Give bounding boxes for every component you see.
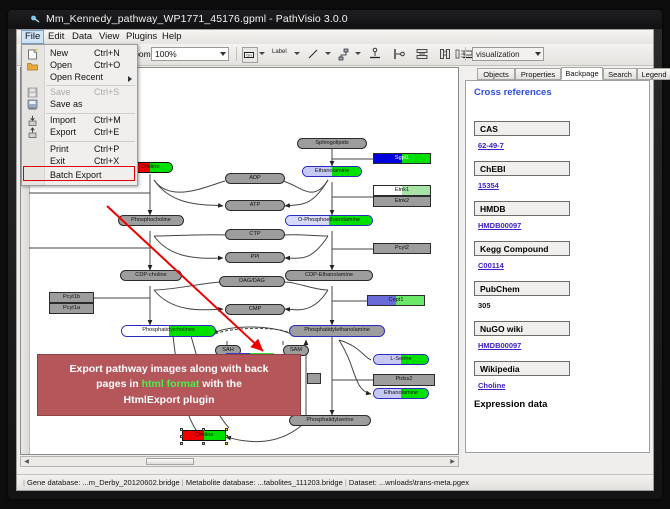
chevron-down-icon[interactable] (294, 52, 300, 55)
app-area: File Edit Data View Plugins Help Zoom: 1… (16, 29, 654, 491)
stack-vertical-icon[interactable] (415, 47, 429, 61)
menu-divider (46, 141, 135, 142)
tab-properties[interactable]: Properties (515, 68, 561, 80)
chevron-down-icon (535, 52, 541, 56)
annotation-line2-b: with the (199, 378, 242, 390)
status-dataset-value: ...wnloads\trans-meta.pgex (379, 478, 469, 487)
xref-value-cas[interactable]: 62-49-7 (478, 141, 504, 150)
annotation-line3: HtmlExport plugin (124, 394, 215, 406)
align-left-icon[interactable] (392, 47, 406, 61)
chevron-down-icon[interactable] (259, 52, 265, 55)
batch-export-highlight (23, 166, 135, 181)
toolbar-separator (236, 47, 237, 61)
cross-references-title: Cross references (474, 87, 552, 98)
menu-plugins[interactable]: Plugins (123, 31, 160, 43)
window-title: Mm_Kennedy_pathway_WP1771_45176.gpml - P… (46, 13, 348, 25)
canvas-hscrollbar[interactable]: ◀ ▶ (20, 456, 459, 467)
annotation-text: Export pathway images along with back pa… (70, 362, 269, 408)
annotation-highlight: html format (142, 378, 200, 390)
backpage-panel[interactable]: Cross references CAS 62-49-7 ChEBI 15354… (465, 80, 650, 453)
annotation-line1: Export pathway images along with back (70, 363, 269, 375)
xref-header-wikipedia: Wikipedia (474, 361, 570, 376)
chevron-down-icon[interactable] (355, 52, 361, 55)
status-metabolite-db-label: Metabolite database: (186, 478, 256, 487)
status-dataset-label: Dataset: (349, 478, 377, 487)
import-icon (27, 115, 38, 126)
save-as-icon (27, 99, 38, 110)
menu-divider (46, 85, 135, 86)
xref-value-hmdb[interactable]: HMDB00097 (478, 221, 521, 230)
menu-shortcut-save: Ctrl+S (94, 87, 119, 97)
side-panel: Objects Properties Backpage Search Legen… (463, 67, 652, 455)
menu-item-import[interactable]: Import (50, 115, 76, 125)
line-tool-icon[interactable] (306, 47, 320, 61)
tab-legend[interactable]: Legend (637, 68, 670, 80)
annotation-banner: Export pathway images along with back pa… (37, 354, 301, 416)
visualization-icon (455, 47, 467, 61)
menu-item-save-as[interactable]: Save as (50, 99, 83, 109)
tab-objects[interactable]: Objects (477, 68, 515, 80)
menu-data[interactable]: Data (69, 31, 95, 43)
interaction-tool-icon[interactable] (337, 47, 351, 61)
menu-edit[interactable]: Edit (45, 31, 67, 43)
datanode-icon: Gn (243, 49, 255, 61)
xref-value-kegg[interactable]: C00114 (478, 261, 504, 270)
xref-value-wikipedia[interactable]: Choline (478, 381, 506, 390)
export-icon (27, 127, 38, 138)
menu-shortcut-print: Ctrl+P (94, 144, 119, 154)
expression-data-title: Expression data (474, 399, 547, 410)
align-top-icon[interactable] (368, 47, 382, 61)
save-disk-icon (27, 87, 38, 98)
visualization-combobox[interactable]: visualization (472, 47, 544, 61)
menu-shortcut-open: Ctrl+O (94, 60, 120, 70)
hscroll-thumb[interactable] (146, 458, 194, 465)
statusbar: | Gene database: ...m_Derby_20120602.bri… (17, 474, 653, 490)
scroll-left-icon[interactable]: ◀ (22, 458, 31, 465)
chevron-down-icon[interactable] (325, 52, 331, 55)
xref-value-chebi[interactable]: 15354 (478, 181, 499, 190)
common-width-icon[interactable] (438, 47, 452, 61)
zoom-value: 100% (155, 49, 177, 59)
label-tool-label[interactable]: Label (272, 49, 287, 55)
datanode-tool-button[interactable]: Gn (242, 47, 258, 63)
application-window: Mm_Kennedy_pathway_WP1771_45176.gpml - P… (8, 10, 662, 499)
menu-item-exit[interactable]: Exit (50, 156, 65, 166)
status-gene-db-label: Gene database: (27, 478, 80, 487)
menu-divider (46, 113, 135, 114)
menu-help[interactable]: Help (159, 31, 185, 43)
zoom-combobox[interactable]: 100% (151, 47, 229, 61)
xref-header-pubchem: PubChem (474, 281, 570, 296)
menu-item-open-recent[interactable]: Open Recent (50, 72, 103, 82)
scroll-right-icon[interactable]: ▶ (448, 458, 457, 465)
svg-text:Gn: Gn (246, 53, 251, 58)
menu-item-new[interactable]: New (50, 48, 68, 58)
tab-backpage[interactable]: Backpage (561, 67, 603, 80)
chevron-down-icon (220, 52, 226, 56)
new-document-icon (27, 49, 38, 60)
menu-shortcut-export: Ctrl+E (94, 127, 119, 137)
status-metabolite-db-value: ...tabolites_111203.bridge (258, 478, 343, 487)
menu-shortcut-exit: Ctrl+X (94, 156, 119, 166)
menu-item-save: Save (50, 87, 71, 97)
xref-header-chebi: ChEBI (474, 161, 570, 176)
xref-header-nugo: NuGO wiki (474, 321, 570, 336)
statusbar-text: | Gene database: ...m_Derby_20120602.bri… (23, 478, 469, 487)
screen: Mm_Kennedy_pathway_WP1771_45176.gpml - P… (0, 0, 670, 509)
tab-search[interactable]: Search (603, 68, 637, 80)
menu-view[interactable]: View (96, 31, 122, 43)
open-folder-icon (27, 61, 38, 72)
xref-value-pubchem: 305 (478, 301, 491, 310)
chevron-right-icon (128, 76, 132, 82)
xref-header-hmdb: HMDB (474, 201, 570, 216)
menu-shortcut-import: Ctrl+M (94, 115, 121, 125)
window-titlebar: Mm_Kennedy_pathway_WP1771_45176.gpml - P… (8, 10, 662, 29)
visualization-value: visualization (476, 50, 520, 59)
file-menu-dropdown[interactable]: New Ctrl+N Open Ctrl+O Open Recent (21, 44, 138, 186)
annotation-line2-a: pages in (96, 378, 142, 390)
menu-item-open[interactable]: Open (50, 60, 72, 70)
xref-value-nugo[interactable]: HMDB00097 (478, 341, 521, 350)
menu-item-export[interactable]: Export (50, 127, 76, 137)
side-panel-tabs: Objects Properties Backpage Search Legen… (463, 67, 652, 80)
pathvisio-icon (30, 14, 41, 25)
menubar: File Edit Data View Plugins Help (17, 30, 653, 45)
status-gene-db-value: ...m_Derby_20120602.bridge (83, 478, 180, 487)
menu-shortcut-new: Ctrl+N (94, 48, 120, 58)
xref-header-kegg: Kegg Compound (474, 241, 570, 256)
xref-header-cas: CAS (474, 121, 570, 136)
menu-file[interactable]: File (21, 30, 44, 44)
menu-item-print[interactable]: Print (50, 144, 69, 154)
